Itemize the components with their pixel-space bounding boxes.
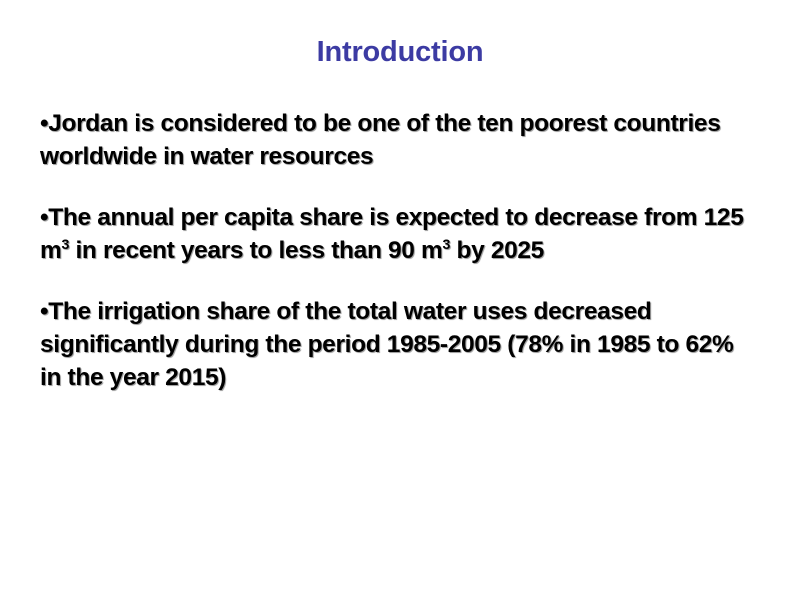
bullet-item-1: •Jordan is considered to be one of the t… [40,107,752,173]
bullet-text-2-part3: by 2025 [450,237,544,264]
bullet-marker-icon: • [40,110,48,137]
page-title: Introduction [0,37,800,69]
bullet-item-3: •The irrigation share of the total water… [40,295,752,394]
cubic-meter-exponent: 3 [61,237,69,253]
slide-canvas: Introduction •Jordan is considered to be… [0,0,800,600]
bullet-text-2-part2: in recent years to less than 90 m [69,237,442,264]
slide-body: •Jordan is considered to be one of the t… [40,107,752,394]
bullet-marker-icon: • [40,204,48,231]
bullet-marker-icon: • [40,298,48,325]
bullet-text-1: Jordan is considered to be one of the te… [40,110,721,170]
cubic-meter-exponent: 3 [442,237,450,253]
bullet-text-3: The irrigation share of the total water … [40,298,733,391]
bullet-item-2: •The annual per capita share is expected… [40,201,752,267]
